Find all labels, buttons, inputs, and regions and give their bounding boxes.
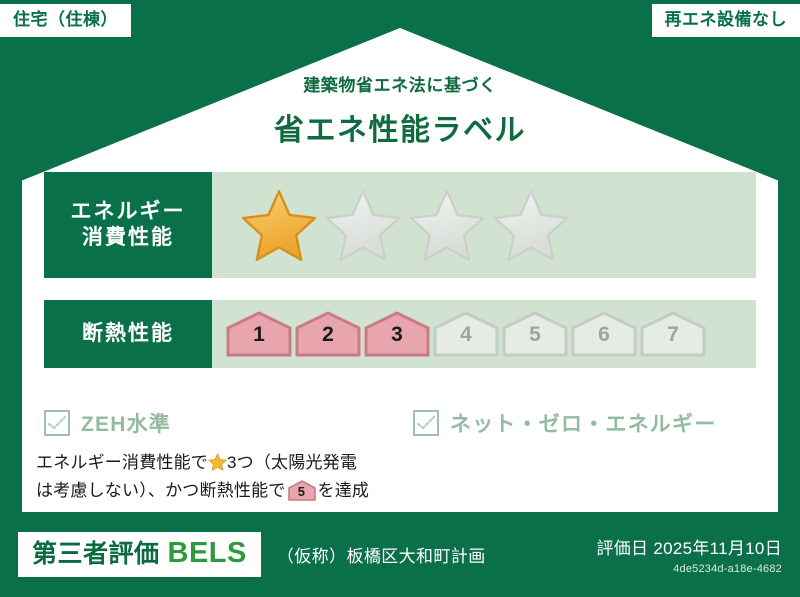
- footer-meta: 評価日 2025年11月10日 4de5234d-a18e-4682: [596, 534, 782, 575]
- criterion-zeh: ZEH水準: [44, 408, 171, 438]
- insulation-grade-value: 2: [295, 324, 361, 345]
- energy-label-line1: エネルギー: [71, 199, 186, 225]
- checkbox-unchecked-icon: [44, 410, 70, 436]
- criterion-netzero: ネット・ゼロ・エネルギー: [413, 408, 716, 438]
- insulation-grade-2: 2: [295, 311, 361, 357]
- bels-energy-performance-label: 住宅（住棟） 再エネ設備なし 建築物省エネ法に基づく 省エネ性能ラベル エネルギ…: [0, 0, 800, 597]
- star-icon: [208, 452, 227, 470]
- evaluation-id: 4de5234d-a18e-4682: [596, 563, 782, 575]
- insulation-performance-content: 1234567: [212, 300, 756, 368]
- energy-performance-row: エネルギー 消費性能: [44, 172, 756, 278]
- criterion-zeh-label: ZEH水準: [81, 408, 171, 438]
- footer-bar: 第三者評価 BELS （仮称）板橋区大和町計画 評価日 2025年11月10日 …: [0, 512, 800, 597]
- star-empty-icon: [324, 188, 402, 263]
- desc-part3: を達成: [318, 481, 370, 500]
- star-empty-icon: [408, 188, 486, 263]
- star-rating: [212, 188, 570, 263]
- bels-certification-mark: 第三者評価 BELS: [18, 532, 261, 577]
- bels-third-party-label: 第三者評価: [32, 542, 160, 567]
- insulation-grade-value: 1: [226, 324, 292, 345]
- insulation-grade-4: 4: [433, 311, 499, 357]
- badge-building-type: 住宅（住棟）: [0, 4, 131, 37]
- insulation-grade-value: 4: [433, 324, 499, 345]
- insulation-grade-value: 3: [364, 324, 430, 345]
- insulation-grade-3: 3: [364, 311, 430, 357]
- insulation-grade-5: 5: [502, 311, 568, 357]
- insulation-performance-label: 断熱性能: [44, 300, 212, 368]
- criterion-netzero-label: ネット・ゼロ・エネルギー: [450, 408, 716, 438]
- insulation-grade-6: 6: [571, 311, 637, 357]
- bels-wordmark: BELS: [168, 539, 247, 568]
- energy-performance-content: [212, 172, 756, 278]
- star-empty-icon: [492, 188, 570, 263]
- insulation-grade-value: 7: [640, 324, 706, 345]
- insulation-grade-1: 1: [226, 311, 292, 357]
- evaluation-date: 評価日 2025年11月10日: [596, 534, 782, 559]
- project-name: （仮称）板橋区大和町計画: [277, 542, 486, 567]
- insulation-grade-value: 6: [571, 324, 637, 345]
- star-filled-icon: [240, 188, 318, 263]
- desc-part2: は考慮しない）、かつ断熱性能で: [36, 481, 286, 500]
- desc-part1: エネルギー消費性能で: [36, 453, 208, 472]
- insulation-grade-value: 5: [502, 324, 568, 345]
- insulation-label-text: 断熱性能: [82, 321, 174, 347]
- badge-renewable-equipment: 再エネ設備なし: [652, 4, 800, 37]
- insulation-grade-scale: 1234567: [212, 311, 706, 357]
- insulation-grade-badge-inline: 5: [288, 480, 316, 501]
- desc-star-count: 3つ（太陽光発電: [227, 453, 357, 472]
- checkbox-unchecked-icon: [413, 410, 439, 436]
- insulation-grade-badge-value: 5: [288, 485, 316, 498]
- page-title: 省エネ性能ラベル: [0, 105, 800, 149]
- title-block: 建築物省エネ法に基づく 省エネ性能ラベル: [0, 71, 800, 149]
- label-subtitle: 建築物省エネ法に基づく: [0, 71, 800, 96]
- insulation-performance-row: 断熱性能 1234567: [44, 300, 756, 368]
- energy-performance-label: エネルギー 消費性能: [44, 172, 212, 278]
- criteria-description: エネルギー消費性能で 3つ（太陽光発電 は考慮しない）、かつ断熱性能で 5 を達…: [36, 449, 456, 505]
- insulation-grade-7: 7: [640, 311, 706, 357]
- energy-label-line2: 消費性能: [82, 225, 174, 251]
